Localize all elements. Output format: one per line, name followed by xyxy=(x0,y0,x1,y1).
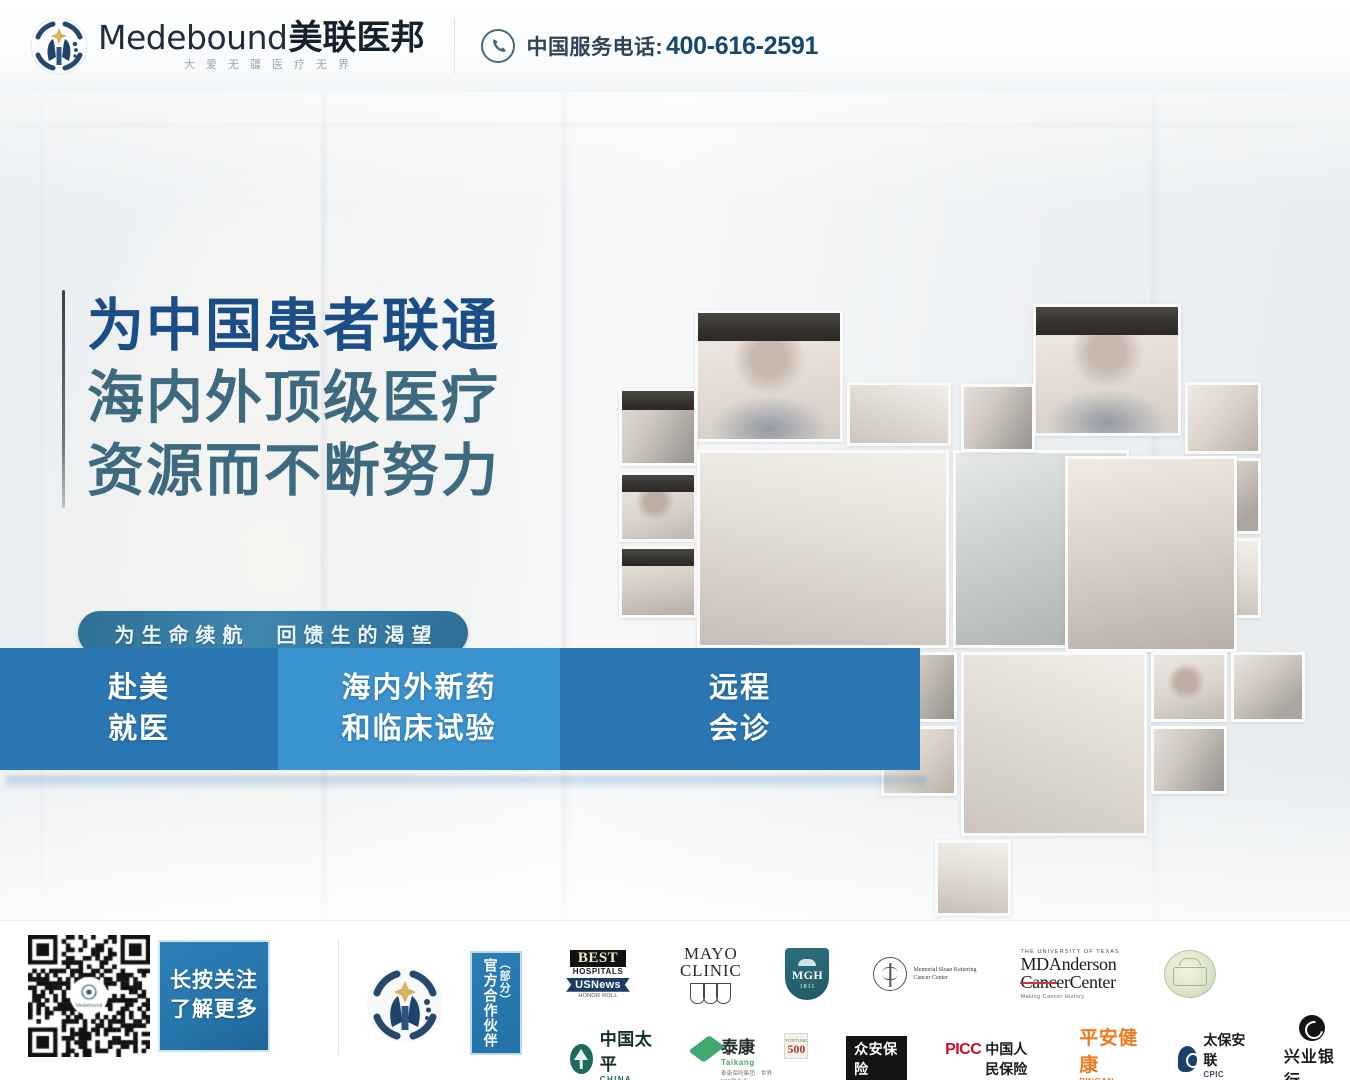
hero-section: 为中国患者联通 海内外顶级医疗 资源而不断努力 为生命续航 回馈生的渴望 赴美 … xyxy=(0,92,1350,920)
photo-collage xyxy=(605,210,1350,910)
fortune-rank: 500 xyxy=(787,1043,805,1055)
qr-code-icon[interactable] xyxy=(28,935,150,1057)
header-divider xyxy=(454,18,455,74)
msk-line-1: Memorial Sloan Kettering xyxy=(913,966,976,974)
logo-industrial-bank: 兴业银行 INDUSTRIAL BANK CO.,LTD xyxy=(1284,1015,1340,1080)
follow-badge-line-1: 长按关注 xyxy=(170,967,258,996)
service-bar-shadow xyxy=(6,776,926,790)
taikang-note: 泰康保险集团 世界500强企业 xyxy=(721,1069,780,1080)
service-bar-remote-consult[interactable]: 远程 会诊 xyxy=(560,648,920,770)
taiping-cn: 中国太平 xyxy=(600,1025,659,1075)
logo-china-taiping: 中国太平 CHINA TAIPING xyxy=(570,1025,659,1080)
service-bar-new-drugs-trials[interactable]: 海内外新药 和临床试验 xyxy=(278,648,560,770)
official-partners-label: （部分） 官方合作伙伴 xyxy=(470,951,522,1055)
mayo-line-2: CLINIC xyxy=(680,962,741,979)
partner-logos: BEST HOSPITALS USNews HONOR ROLL MAYO CL… xyxy=(560,935,1340,1075)
service-bars: 赴美 就医 海内外新药 和临床试验 远程 会诊 xyxy=(0,648,920,770)
pingan-cn: 平安健康 xyxy=(1079,1023,1139,1077)
mgh-name: MGH xyxy=(792,968,823,983)
usnews-best: BEST xyxy=(570,950,626,967)
service-1-line-1: 赴美 xyxy=(108,672,170,704)
logo-cpic-allianz: 太保安联 CPIC Allianz xyxy=(1178,1030,1246,1080)
headline-line-1: 为中国患者联通 xyxy=(87,290,500,362)
service-3-line-2: 会诊 xyxy=(709,713,771,745)
partner-label-sub: （部分） xyxy=(498,958,510,1048)
hospital-seal-icon xyxy=(1164,950,1216,998)
collage-photo-clinic-consult-small xyxy=(847,382,951,446)
mda-sub: Making Cancer History xyxy=(1020,994,1084,1000)
phone-icon xyxy=(481,29,515,63)
headline-line-2: 海内外顶级医疗 xyxy=(87,362,500,434)
mda-name-3: Center xyxy=(1070,972,1116,992)
taikang-en: Taikang xyxy=(721,1058,780,1067)
collage-photo-hospital-room-bw xyxy=(961,384,1035,452)
mda-name-1: MDAnderson xyxy=(1020,955,1116,973)
industrial-bank-swirl-icon xyxy=(1299,1015,1325,1041)
msk-line-2: Cancer Center xyxy=(913,974,976,982)
partner-logos-insurers: 中国太平 CHINA TAIPING 泰康 Taikang 泰康保险集团 世界5… xyxy=(570,1015,1340,1080)
collage-photo-therapy-session xyxy=(1065,456,1237,652)
collage-photo-video-call-man-bookshelf xyxy=(619,546,697,618)
picc-en: PICC xyxy=(945,1041,981,1059)
usnews-ribbon: USNews xyxy=(566,978,630,992)
follow-badge-line-2: 了解更多 xyxy=(170,996,258,1025)
logo-md-anderson: THE UNIVERSITY OF TEXAS MDAnderson Cance… xyxy=(1020,949,1119,1000)
footer-divider xyxy=(338,939,339,1055)
logo-usnews-best-hospitals: BEST HOSPITALS USNews HONOR ROLL xyxy=(560,950,636,999)
collage-photo-laptop-workspace xyxy=(1151,726,1227,794)
cib-cn: 兴业银行 xyxy=(1284,1043,1340,1080)
mda-name-2: Cancer xyxy=(1020,973,1069,991)
brand-name-en: Medebound xyxy=(98,21,287,54)
mgh-dome-icon xyxy=(798,959,816,966)
follow-badge[interactable]: 长按关注 了解更多 xyxy=(158,940,270,1052)
taikang-fortune500-badge: FORTUNE 500 xyxy=(784,1033,808,1059)
msk-emblem-icon xyxy=(873,957,907,991)
mgh-year: 1811 xyxy=(800,984,816,990)
collage-photo-video-call-woman-glasses xyxy=(619,472,697,542)
brand-tagline: 大爱无疆医疗无界 xyxy=(184,60,424,71)
partner-label-main: 官方合作伙伴 xyxy=(483,958,498,1048)
collage-photo-video-call-doctor-suit xyxy=(1033,304,1181,436)
site-footer: 长按关注 了解更多 xyxy=(0,920,1350,1080)
phone-number: 400-616-2591 xyxy=(666,32,818,61)
hero-headline: 为中国患者联通 海内外顶级医疗 资源而不断努力 xyxy=(62,290,500,508)
logo-memorial-sloan-kettering: Memorial Sloan Kettering Cancer Center xyxy=(873,957,976,991)
service-1-line-2: 就医 xyxy=(108,713,170,745)
service-bar-us-treatment[interactable]: 赴美 就医 xyxy=(0,648,278,770)
collage-photo-mother-and-child xyxy=(935,840,1011,916)
taikang-cn: 泰康 xyxy=(721,1033,780,1058)
mayo-line-1: MAYO xyxy=(680,945,741,962)
slogan-text: 为生命续航 回馈生的渴望 xyxy=(108,619,439,648)
logo-mgh: MGH 1811 xyxy=(785,948,829,1000)
brand-logo[interactable]: Medebound 美联医邦 大爱无疆医疗无界 xyxy=(0,15,424,77)
collage-photo-video-call-man-dark-room xyxy=(619,388,697,466)
mayo-shields-icon xyxy=(691,983,730,1004)
cpic-emblem-icon xyxy=(1178,1046,1198,1072)
headline-accent-rule xyxy=(62,290,65,508)
logo-pingan-health: 平安健康 PINGAN HEALTH xyxy=(1079,1023,1139,1080)
picc-cn: 中国人民保险 xyxy=(985,1039,1041,1079)
hands-cross-logo-icon xyxy=(363,963,447,1047)
logo-taikang: 泰康 Taikang 泰康保险集团 世界500强企业 FORTUNE 500 xyxy=(697,1033,809,1080)
taiping-tree-icon xyxy=(570,1044,593,1074)
collage-photo-conference-meeting xyxy=(961,652,1147,836)
logo-mayo-clinic: MAYO CLINIC xyxy=(680,945,741,1004)
logo-picc: PICC 中国人民保险 xyxy=(945,1039,1041,1079)
service-2-line-1: 海内外新药 xyxy=(341,672,496,704)
poster-page: Medebound 美联医邦 大爱无疆医疗无界 中国服务电话: 400-616-… xyxy=(0,0,1350,1080)
collage-photo-doctor-at-computer xyxy=(1151,652,1227,722)
cpic-cn: 太保安联 xyxy=(1203,1030,1245,1070)
service-3-line-1: 远程 xyxy=(709,672,771,704)
collage-photo-video-call-doctor-elderly-man xyxy=(695,310,843,442)
collage-photo-family-with-doctor xyxy=(697,450,949,648)
collage-photo-ward-visit xyxy=(1231,652,1305,722)
taiping-en: CHINA TAIPING xyxy=(600,1075,659,1080)
phone-label: 中国服务电话: xyxy=(526,31,663,61)
usnews-hospitals: HOSPITALS xyxy=(573,967,624,976)
service-2-line-2: 和临床试验 xyxy=(341,713,496,745)
headline-line-3: 资源而不断努力 xyxy=(87,435,500,507)
zhongan-cn: 众安保险 xyxy=(854,1039,899,1079)
site-header: Medebound 美联医邦 大爱无疆医疗无界 中国服务电话: 400-616-… xyxy=(0,0,1350,92)
partner-logos-hospitals: BEST HOSPITALS USNews HONOR ROLL MAYO CL… xyxy=(560,945,1216,1004)
cpic-en: CPIC Allianz xyxy=(1203,1070,1245,1080)
brand-name-cn: 美联医邦 xyxy=(288,21,424,55)
usnews-sub: HONOR ROLL xyxy=(578,993,617,999)
qr-follow-block: 长按关注 了解更多 xyxy=(28,935,270,1057)
service-phone[interactable]: 中国服务电话: 400-616-2591 xyxy=(481,29,818,63)
logo-hospital-seal xyxy=(1164,950,1216,998)
collage-photo-doctor-portrait-badge xyxy=(1185,382,1261,454)
taikang-diamond-icon xyxy=(688,1035,725,1063)
medebound-emblem-icon xyxy=(28,15,90,77)
logo-zhongan: 众安保险 xyxy=(846,1036,907,1080)
